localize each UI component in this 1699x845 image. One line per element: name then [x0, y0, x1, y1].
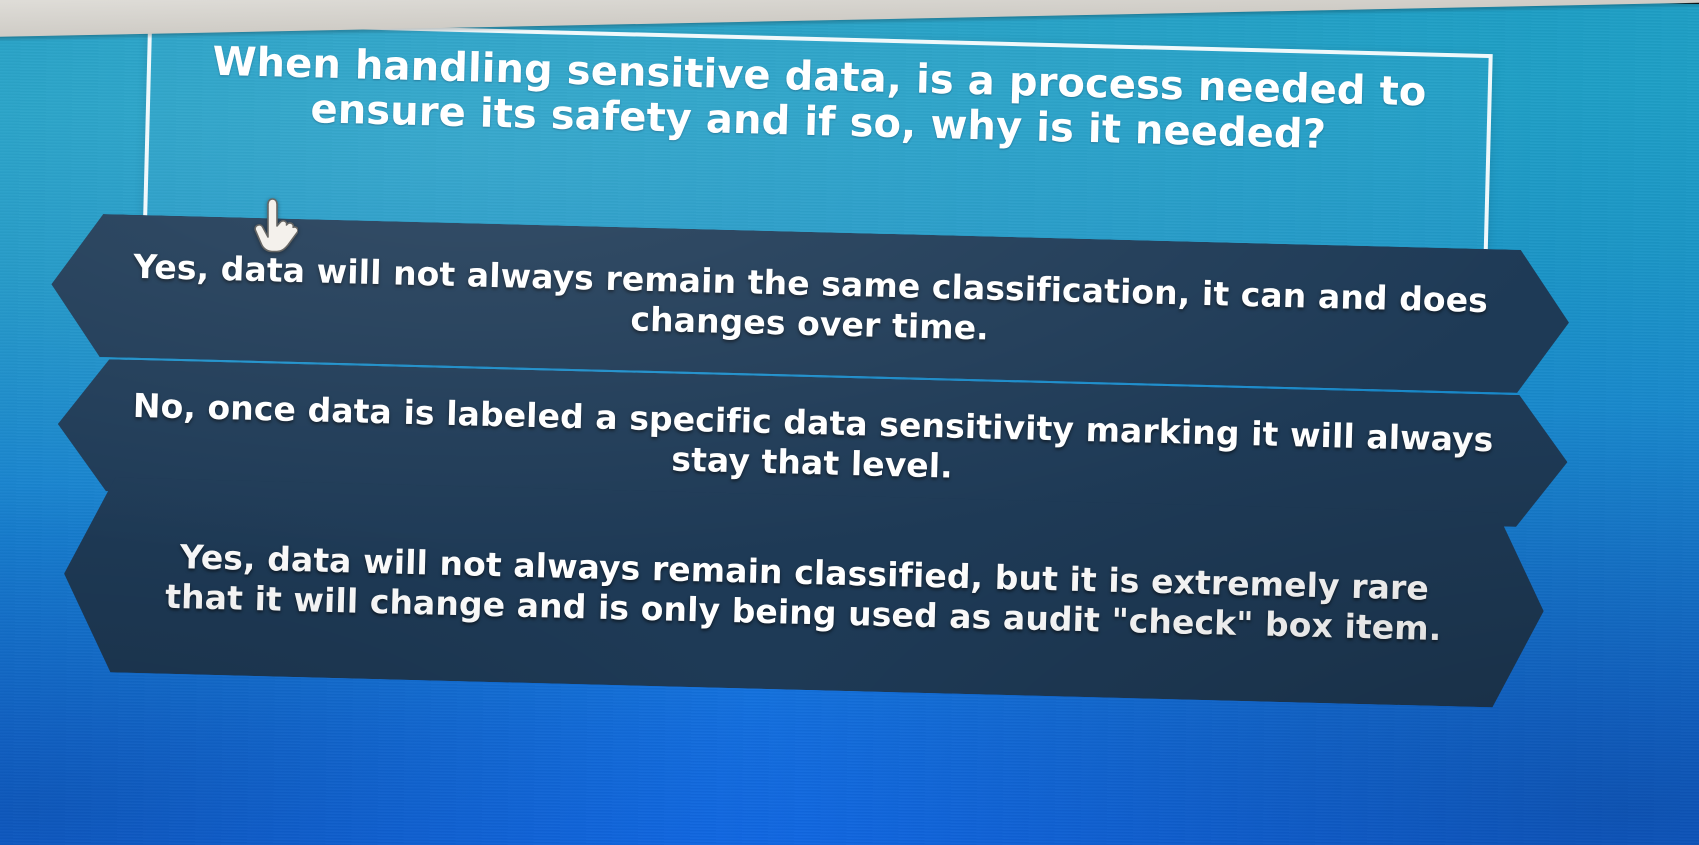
answer-option-3[interactable]: Yes, data will not always remain classif…: [62, 476, 1546, 708]
answer-option-3-label: Yes, data will not always remain classif…: [137, 536, 1471, 649]
answer-option-1-label: Yes, data will not always remain the sam…: [124, 247, 1496, 361]
answer-options-list: Yes, data will not always remain the sam…: [0, 0, 1699, 845]
quiz-screen: When handling sensitive data, is a proce…: [0, 0, 1699, 845]
monitor-photo: When handling sensitive data, is a proce…: [0, 0, 1699, 845]
pointing-hand-cursor-icon: [252, 198, 298, 258]
answer-option-2-label: No, once data is labeled a specific data…: [131, 386, 1495, 500]
